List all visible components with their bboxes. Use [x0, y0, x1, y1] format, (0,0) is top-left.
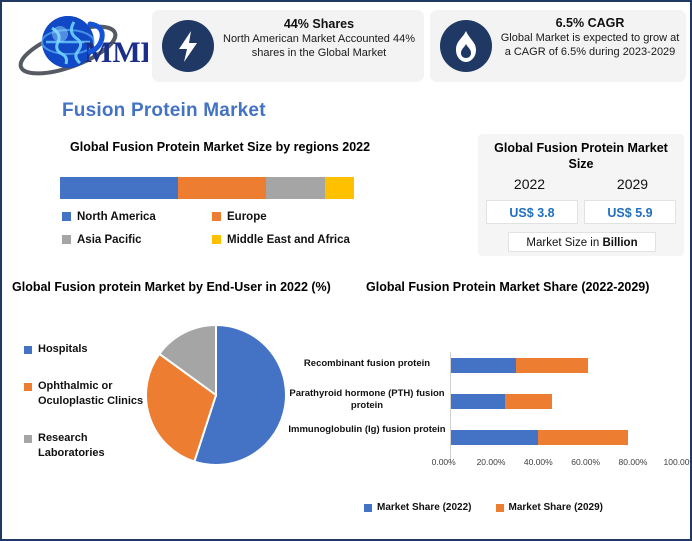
- share-legend-item-2029: Market Share (2029): [496, 502, 604, 513]
- bar-row-recombinant: [451, 358, 588, 373]
- stat-card-shares: 44% Shares North American Market Account…: [152, 10, 424, 82]
- header: MMR 44% Shares North American Market Acc…: [2, 2, 692, 90]
- pie-legend-item-research-laboratories: Research Laboratories: [24, 431, 144, 461]
- market-share-plot-area: [450, 352, 675, 462]
- legend-item-asia-pacific: Asia Pacific: [62, 228, 212, 251]
- stat-card-cagr-title: 6.5% CAGR: [500, 15, 680, 31]
- stat-card-shares-description: North American Market Accounted 44% shar…: [220, 33, 418, 60]
- legend-label: Europe: [227, 211, 267, 223]
- market-share-chart: Recombinant fusion protein Parathyroid h…: [287, 352, 687, 470]
- legend-swatch-icon: [24, 383, 32, 391]
- region-segment-asia-pacific: [266, 177, 325, 199]
- legend-swatch-icon: [24, 435, 32, 443]
- axis-tick-label: 100.00%: [657, 457, 692, 467]
- legend-swatch-icon: [364, 504, 372, 512]
- bar-segment-2022: [451, 358, 516, 373]
- legend-item-middle-east-africa: Middle East and Africa: [212, 228, 362, 251]
- legend-swatch-icon: [62, 235, 71, 244]
- legend-item-europe: Europe: [212, 205, 362, 228]
- axis-tick-label: 80.00%: [609, 457, 656, 467]
- category-label-recombinant: Recombinant fusion protein: [287, 358, 447, 370]
- legend-swatch-icon: [212, 235, 221, 244]
- bar-row-pth: [451, 394, 552, 409]
- axis-tick-label: 60.00%: [562, 457, 609, 467]
- market-size-unit-prefix: Market Size in: [526, 237, 602, 249]
- pie-legend: Hospitals Ophthalmic or Oculoplastic Cli…: [24, 342, 144, 483]
- region-chart-title: Global Fusion Protein Market Size by reg…: [70, 140, 370, 154]
- axis-tick-label: 40.00%: [515, 457, 562, 467]
- market-size-years: 2022 2029: [478, 176, 684, 192]
- legend-label: North America: [77, 211, 156, 223]
- market-share-x-axis: 0.00% 20.00% 40.00% 60.00% 80.00% 100.00…: [420, 457, 692, 467]
- lightning-bolt-icon: [162, 20, 214, 72]
- stat-card-shares-title: 44% Shares: [220, 16, 418, 32]
- share-legend-label: Market Share (2022): [377, 502, 472, 513]
- market-size-unit-note: Market Size in Billion: [508, 232, 656, 252]
- pie-chart-title: Global Fusion protein Market by End-User…: [12, 280, 331, 294]
- region-segment-europe: [178, 177, 266, 199]
- pie-legend-label: Ophthalmic or Oculoplastic Clinics: [38, 379, 144, 409]
- pie-legend-label: Hospitals: [38, 342, 88, 357]
- region-legend: North America Europe Asia Pacific Middle…: [62, 205, 362, 251]
- axis-tick-label: 20.00%: [467, 457, 514, 467]
- flame-icon: [440, 20, 492, 72]
- legend-item-north-america: North America: [62, 205, 212, 228]
- market-share-category-labels: Recombinant fusion protein Parathyroid h…: [287, 352, 447, 462]
- market-size-unit-value: Billion: [602, 237, 637, 249]
- market-size-year-2022: 2022: [478, 176, 581, 192]
- legend-label: Middle East and Africa: [227, 234, 350, 246]
- region-segment-middle-east-africa: [325, 177, 354, 199]
- bar-segment-2029: [538, 430, 628, 445]
- bar-segment-2022: [451, 430, 538, 445]
- axis-tick-label: 0.00%: [420, 457, 467, 467]
- bar-segment-2029: [505, 394, 552, 409]
- bar-segment-2029: [516, 358, 588, 373]
- pie-chart: [145, 324, 287, 466]
- legend-swatch-icon: [24, 346, 32, 354]
- globe-orbit-icon: MMR: [16, 10, 148, 80]
- pie-legend-label: Research Laboratories: [38, 431, 144, 461]
- bar-segment-2022: [451, 394, 505, 409]
- category-label-pth: Parathyroid hormone (PTH) fusion protein: [287, 388, 447, 411]
- category-label-immunoglobulin: Immunoglobulin (Ig) fusion protein: [287, 424, 447, 436]
- legend-swatch-icon: [496, 504, 504, 512]
- market-size-value-2029: US$ 5.9: [584, 200, 676, 224]
- region-stacked-bar: [60, 177, 354, 199]
- legend-swatch-icon: [212, 212, 221, 221]
- market-share-legend: Market Share (2022) Market Share (2029): [364, 502, 627, 513]
- market-size-year-2029: 2029: [581, 176, 684, 192]
- mmr-logo: MMR: [16, 10, 148, 80]
- share-legend-item-2022: Market Share (2022): [364, 502, 472, 513]
- stat-card-cagr: 6.5% CAGR Global Market is expected to g…: [430, 10, 686, 82]
- legend-label: Asia Pacific: [77, 234, 142, 246]
- pie-legend-item-ophthalmic-clinics: Ophthalmic or Oculoplastic Clinics: [24, 379, 144, 409]
- market-size-panel-title: Global Fusion Protein Market Size: [484, 140, 678, 172]
- share-legend-label: Market Share (2029): [509, 502, 604, 513]
- region-segment-north-america: [60, 177, 178, 199]
- stat-card-cagr-text: 6.5% CAGR Global Market is expected to g…: [500, 15, 680, 59]
- infographic-root: MMR 44% Shares North American Market Acc…: [0, 0, 692, 541]
- share-chart-title: Global Fusion Protein Market Share (2022…: [366, 280, 649, 294]
- pie-legend-item-hospitals: Hospitals: [24, 342, 144, 357]
- market-size-value-2022: US$ 3.8: [486, 200, 578, 224]
- market-size-panel: Global Fusion Protein Market Size 2022 2…: [478, 134, 684, 256]
- stat-card-shares-text: 44% Shares North American Market Account…: [220, 16, 418, 60]
- bar-row-immunoglobulin: [451, 430, 628, 445]
- page-title: Fusion Protein Market: [62, 100, 266, 122]
- stat-card-cagr-description: Global Market is expected to grow at a C…: [500, 32, 680, 59]
- market-size-values: US$ 3.8 US$ 5.9: [486, 200, 676, 224]
- legend-swatch-icon: [62, 212, 71, 221]
